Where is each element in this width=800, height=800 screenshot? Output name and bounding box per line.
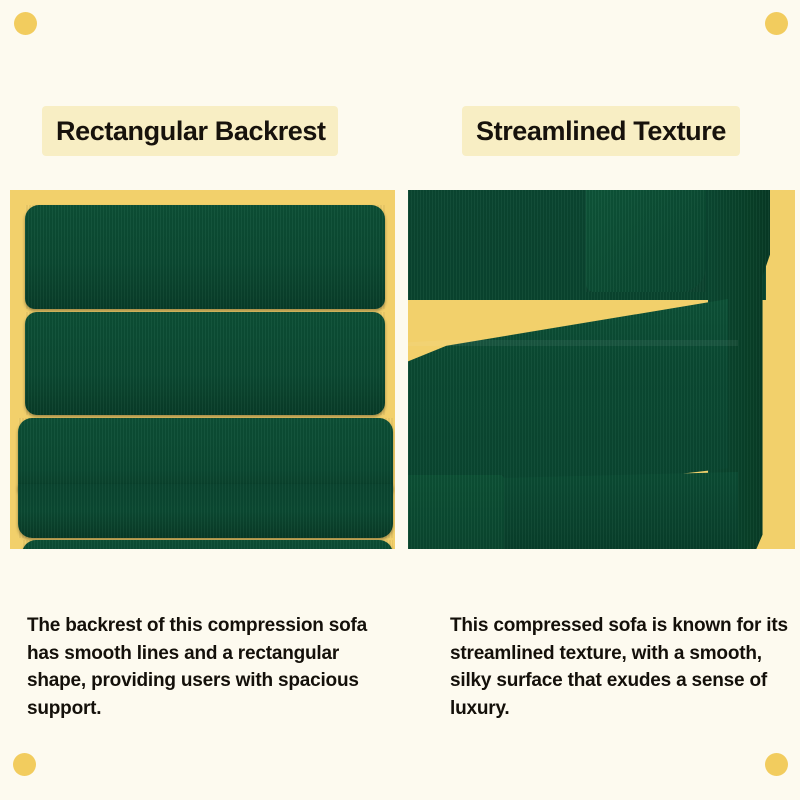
heading-label-left: Rectangular Backrest xyxy=(56,118,326,145)
backrest-cushion-bottom xyxy=(22,540,393,549)
backrest-cushion-second xyxy=(25,312,385,415)
sofa-armrest-edge xyxy=(408,340,738,346)
backrest-cushion-top xyxy=(25,205,385,309)
product-photo-backrest xyxy=(10,190,395,549)
feature-column-streamlined-texture: Streamlined Texture This compressed sofa… xyxy=(400,0,800,800)
heading-label-right: Streamlined Texture xyxy=(476,118,726,145)
sofa-left-block xyxy=(408,475,504,549)
feature-column-rectangular-backrest: Rectangular Backrest The backrest of thi… xyxy=(0,0,400,800)
heading-pill-left: Rectangular Backrest xyxy=(42,106,338,156)
sofa-back-pillow xyxy=(586,190,706,292)
backrest-cushion-third xyxy=(18,418,393,491)
backrest-cushion-fourth xyxy=(18,484,393,538)
caption-text-left: The backrest of this compression sofa ha… xyxy=(27,612,377,722)
caption-text-right: This compressed sofa is known for its st… xyxy=(450,612,790,722)
product-photo-texture xyxy=(408,190,795,549)
heading-pill-right: Streamlined Texture xyxy=(462,106,740,156)
